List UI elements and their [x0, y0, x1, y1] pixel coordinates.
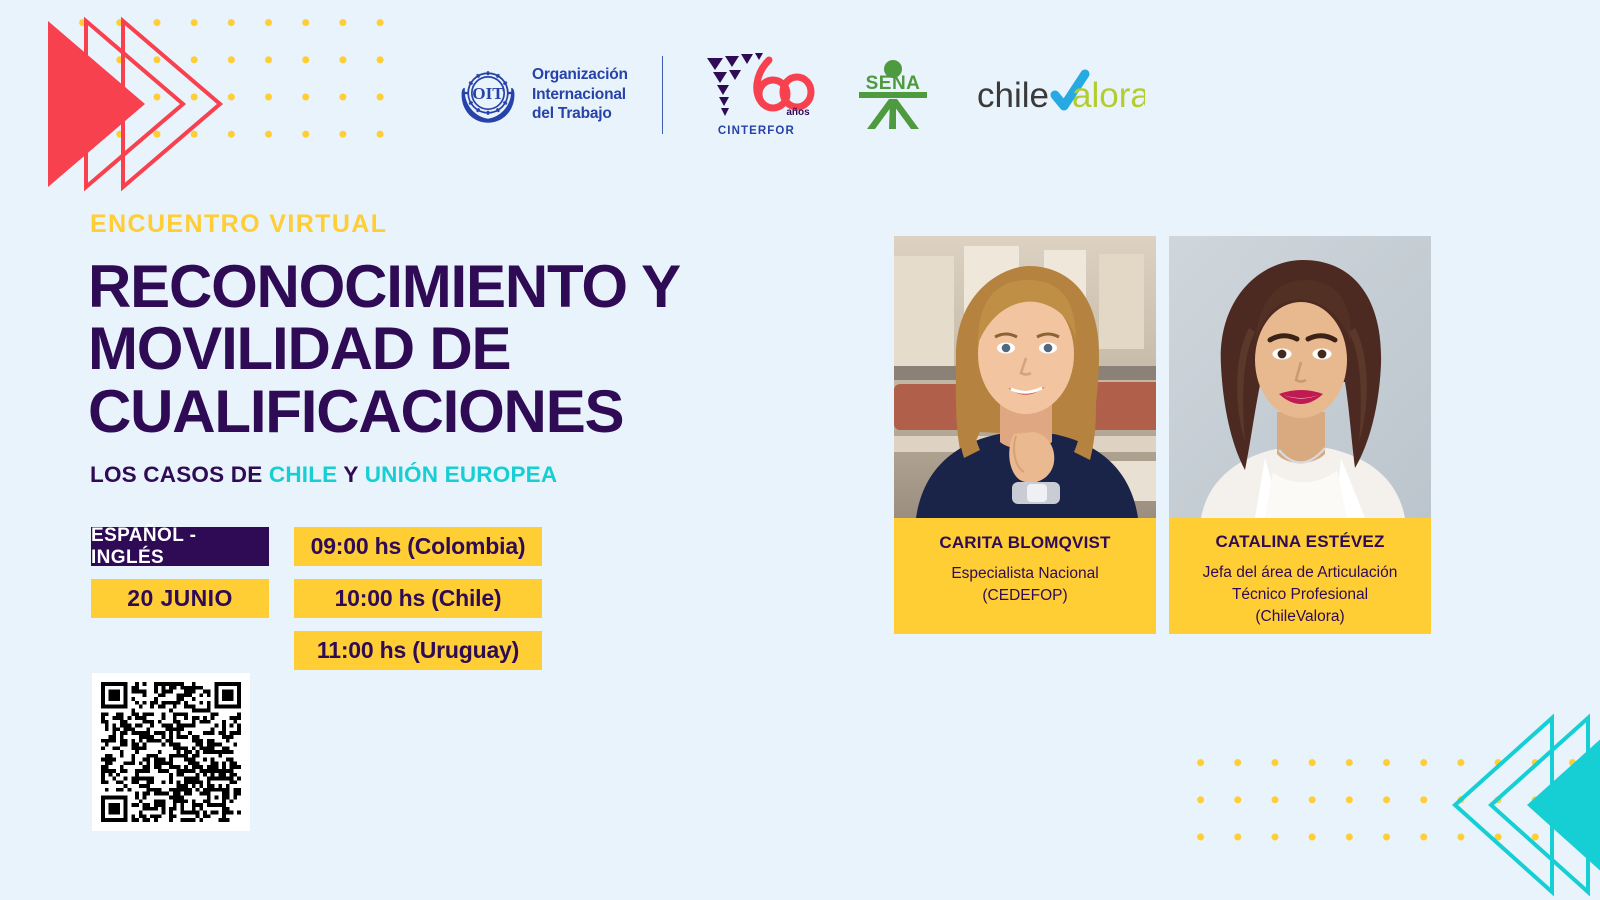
logo-sena: SENA [853, 59, 933, 131]
speaker-photo [894, 236, 1156, 518]
speaker-info: CATALINA ESTÉVEZ Jefa del área de Articu… [1169, 518, 1431, 634]
speaker-name: CARITA BLOMQVIST [904, 533, 1146, 553]
qr-code[interactable] [92, 673, 250, 831]
speaker-info: CARITA BLOMQVIST Especialista Nacional (… [894, 518, 1156, 634]
cinterfor-60-icon: años [697, 52, 815, 124]
subtitle-middle: Y [337, 462, 364, 487]
sena-icon: SENA [853, 59, 933, 131]
oit-wordmark: Organización Internacional del Trabajo [532, 65, 628, 124]
svg-text:SENA: SENA [866, 73, 921, 94]
oit-line-1: Organización [532, 65, 628, 85]
oit-emblem-icon: OIT [455, 62, 521, 128]
speaker-card: CARITA BLOMQVIST Especialista Nacional (… [894, 236, 1156, 634]
subtitle-accent-chile: CHILE [269, 462, 338, 487]
subtitle-accent-union-europea: UNIÓN EUROPEA [365, 462, 558, 487]
badge-date: 20 JUNIO [91, 579, 269, 618]
speaker-card: CATALINA ESTÉVEZ Jefa del área de Articu… [1169, 236, 1431, 634]
cinterfor-wordmark: CINTERFOR [718, 125, 795, 137]
subtitle: LOS CASOS DE CHILE Y UNIÓN EUROPEA [90, 462, 557, 488]
logo-divider [662, 56, 664, 134]
logo-oit: OIT Organización Internacional del Traba… [455, 62, 628, 128]
eyebrow-label: ENCUENTRO VIRTUAL [90, 210, 387, 239]
speaker-role: Especialista Nacional (CEDEFOP) [904, 563, 1146, 607]
badge-languages: ESPAÑOL - INGLÉS [91, 527, 269, 566]
time-chip-colombia: 09:00 hs (Colombia) [294, 527, 542, 566]
teal-arrows-decoration [1360, 710, 1600, 900]
logo-cinterfor: años CINTERFOR [697, 52, 815, 137]
speaker-role: Jefa del área de Articulación Técnico Pr… [1179, 562, 1421, 628]
qr-code-image [101, 682, 241, 822]
logo-bar: OIT Organización Internacional del Traba… [455, 52, 1145, 137]
chilevalora-wordmark-icon: chile alora [975, 69, 1145, 121]
speaker-portrait-2-icon [1169, 236, 1431, 518]
svg-text:OIT: OIT [472, 83, 504, 102]
time-chip-chile: 10:00 hs (Chile) [294, 579, 542, 618]
oit-line-2: Internacional [532, 85, 628, 105]
red-arrows-decoration [0, 0, 300, 200]
chilevalora-part-2: alora [1072, 76, 1145, 115]
page-title: RECONOCIMIENTO Y MOVILIDAD DE CUALIFICAC… [88, 256, 788, 443]
oit-line-3: del Trabajo [532, 104, 628, 124]
speaker-name: CATALINA ESTÉVEZ [1179, 532, 1421, 552]
speaker-photo [1169, 236, 1431, 518]
time-chip-uruguay: 11:00 hs (Uruguay) [294, 631, 542, 670]
cinterfor-years-label: años [787, 107, 811, 118]
logo-chilevalora: chile alora [975, 69, 1145, 121]
speaker-portrait-1-icon [894, 236, 1156, 518]
chilevalora-part-1: chile [977, 76, 1049, 115]
subtitle-prefix: LOS CASOS DE [90, 462, 269, 487]
